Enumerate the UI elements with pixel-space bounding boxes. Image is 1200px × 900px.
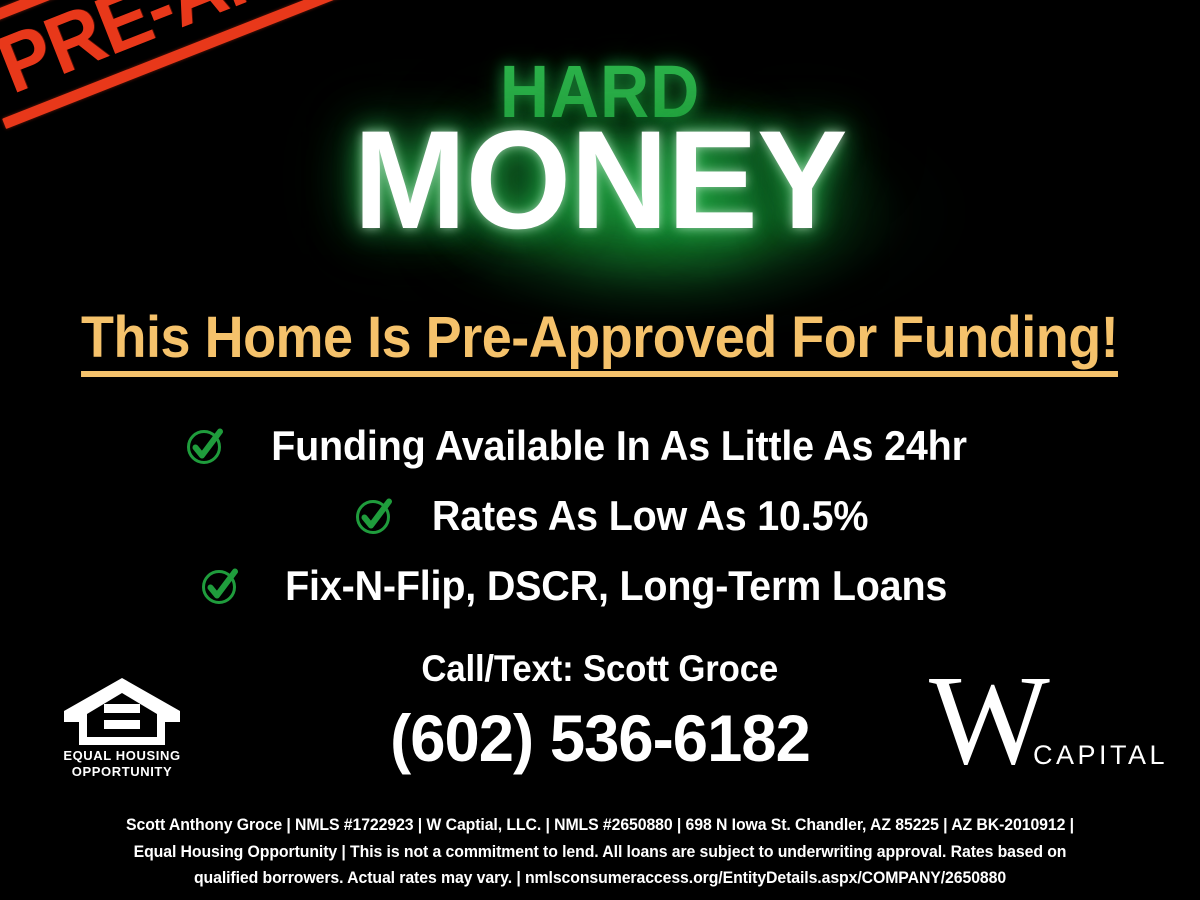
company-logo-name: CAPITAL [1033,740,1168,771]
list-item-label: Funding Available In As Little As 24hr [271,422,967,470]
hard-money-flyer: HARD MONEY PRE-APPROVED This Home Is Pre… [0,0,1200,900]
equal-housing-logo: EQUAL HOUSING OPPORTUNITY [52,676,192,781]
subheadline-text: This Home Is Pre-Approved For Funding! [81,308,1118,377]
contact-name: Call/Text: Scott Groce [422,648,779,690]
check-circle-icon [183,424,227,468]
company-logo-mark: W [929,656,1050,784]
disclaimer-line-3: qualified borrowers. Actual rates may va… [68,865,1132,892]
disclaimer-line-1: Scott Anthony Groce | NMLS #1722923 | W … [68,812,1132,839]
disclaimer: Scott Anthony Groce | NMLS #1722923 | W … [46,812,1154,892]
subheadline: This Home Is Pre-Approved For Funding! [0,308,1200,377]
stamp-top-bar [0,0,537,32]
check-circle-icon [198,564,242,608]
list-item-label: Rates As Low As 10.5% [432,492,868,540]
benefits-list: Funding Available In As Little As 24hr R… [0,412,1200,622]
headline-word-money: MONEY [18,117,1182,243]
list-item-label: Fix-N-Flip, DSCR, Long-Term Loans [285,562,947,610]
company-logo: W CAPITAL [925,662,1165,792]
disclaimer-line-2: Equal Housing Opportunity | This is not … [68,839,1132,866]
list-item: Fix-N-Flip, DSCR, Long-Term Loans [0,552,1200,620]
equal-housing-line2: OPPORTUNITY [52,764,192,780]
headline: HARD MONEY [0,62,1200,243]
list-item: Rates As Low As 10.5% [0,482,1200,550]
equal-housing-line1: EQUAL HOUSING [52,748,192,764]
check-circle-icon [352,494,396,538]
list-item: Funding Available In As Little As 24hr [0,412,1200,480]
equal-housing-house-icon [61,676,183,748]
